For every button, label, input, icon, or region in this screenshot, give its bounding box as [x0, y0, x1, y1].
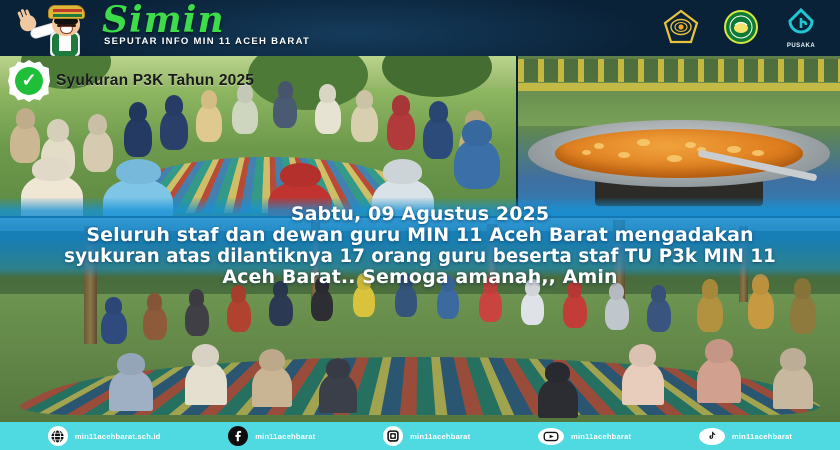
- caption-date: Sabtu, 09 Agustus 2025: [291, 204, 549, 225]
- social-label-instagram: min11acehbarat: [410, 432, 470, 441]
- instagram-icon: [383, 426, 403, 446]
- caption-band: Sabtu, 09 Agustus 2025 Seluruh staf dan …: [0, 198, 840, 278]
- cooking-pot: [528, 120, 831, 187]
- info-poster: Simin SEPUTAR INFO MIN 11 ACEH BARAT: [0, 0, 840, 450]
- social-footer: min11acehbarat.sch.id min11acehbarat min…: [0, 422, 840, 450]
- photo-curry-pot-right: [518, 56, 840, 216]
- caption-line-3: Aceh Barat.. Semoga amanah,, Amin: [222, 267, 617, 288]
- caption-line-2: syukuran atas dilantiknya 17 orang guru …: [64, 246, 776, 267]
- poster-header: Simin SEPUTAR INFO MIN 11 ACEH BARAT: [0, 0, 840, 56]
- tiktok-icon: [699, 428, 725, 445]
- acehnese-mascot-icon: [16, 1, 94, 56]
- header-logos: PUSAKA: [662, 8, 820, 46]
- kemenag-logo-icon: [662, 8, 700, 46]
- pusaka-logo-caption: PUSAKA: [782, 43, 820, 49]
- social-label-tiktok: min11acehbarat: [732, 432, 792, 441]
- social-label-youtube: min11acehbarat: [571, 432, 631, 441]
- social-link-instagram[interactable]: min11acehbarat: [383, 426, 470, 446]
- social-link-website[interactable]: min11acehbarat.sch.id: [48, 426, 161, 446]
- social-link-youtube[interactable]: min11acehbarat: [538, 428, 631, 445]
- social-label-facebook: min11acehbarat: [255, 432, 315, 441]
- youtube-icon: [538, 428, 564, 445]
- madrasah-seal-logo-icon: [722, 8, 760, 46]
- green-check-icon: ✓: [8, 60, 50, 102]
- caption-line-1: Seluruh staf dan dewan guru MIN 11 Aceh …: [86, 225, 753, 246]
- social-link-tiktok[interactable]: min11acehbarat: [699, 428, 792, 445]
- facebook-icon: [228, 426, 248, 446]
- brand-name: Simin: [96, 2, 396, 38]
- event-badge: ✓ Syukuran P3K Tahun 2025: [8, 60, 254, 102]
- social-label-website: min11acehbarat.sch.id: [75, 432, 161, 441]
- globe-icon: [48, 426, 68, 446]
- brand-block: Simin SEPUTAR INFO MIN 11 ACEH BARAT: [96, 2, 396, 54]
- event-badge-title: Syukuran P3K Tahun 2025: [56, 72, 254, 90]
- social-link-facebook[interactable]: min11acehbarat: [228, 426, 315, 446]
- pusaka-logo-icon: PUSAKA: [782, 8, 820, 46]
- brand-subtitle: SEPUTAR INFO MIN 11 ACEH BARAT: [96, 36, 396, 47]
